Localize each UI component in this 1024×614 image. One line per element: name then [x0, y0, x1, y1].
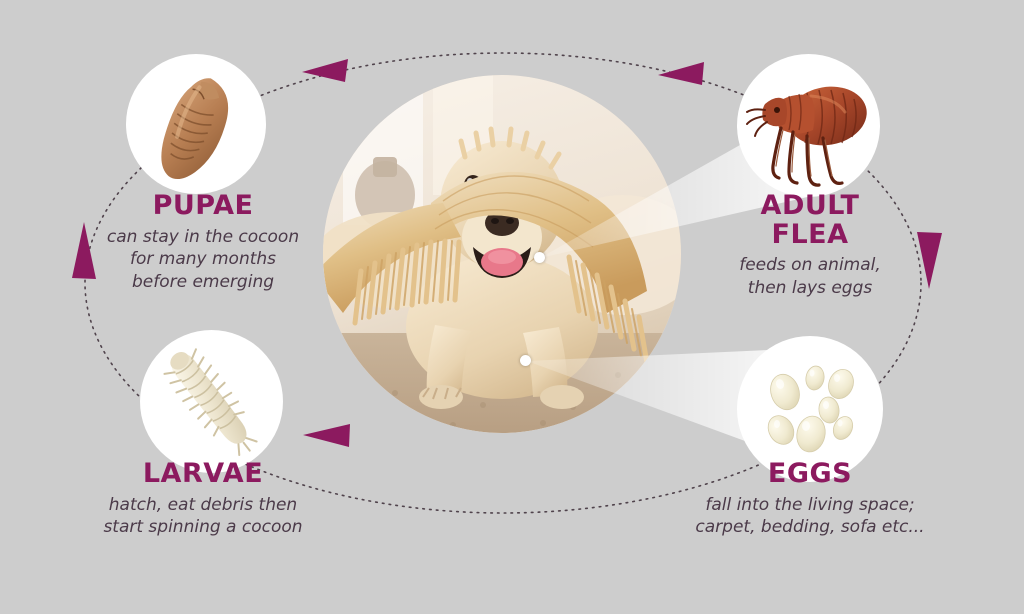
arrow-flea-to-eggs-right	[917, 232, 942, 289]
flea-larva-icon	[140, 330, 283, 473]
flea-life-cycle-infographic: PUPAE can stay in the cocoon for many mo…	[0, 0, 1024, 614]
stage-title-adult-flea: ADULT FLEA	[700, 192, 920, 249]
stage-label-pupae: PUPAE can stay in the cocoon for many mo…	[78, 192, 328, 293]
arrow-toward-adult-flea	[658, 62, 704, 85]
stage-label-adult-flea: ADULT FLEA feeds on animal, then lays eg…	[700, 192, 920, 299]
stage-description-larvae: hatch, eat debris then start spinning a …	[78, 494, 328, 539]
stage-label-larvae: LARVAE hatch, eat debris then start spin…	[78, 460, 328, 539]
eggs-hotspot[interactable]	[520, 355, 531, 366]
stage-bubble-adult-flea[interactable]	[737, 54, 880, 197]
stage-bubble-larvae[interactable]	[140, 330, 283, 473]
stage-label-eggs: EGGS fall into the living space; carpet,…	[660, 460, 960, 539]
arrow-flea-to-pupae-top	[302, 59, 348, 82]
stage-title-pupae: PUPAE	[78, 192, 328, 221]
stage-description-adult-flea: feeds on animal, then lays eggs	[700, 254, 920, 299]
stage-bubble-pupae[interactable]	[126, 54, 266, 194]
arrow-eggs-to-larvae-bottom	[303, 424, 350, 447]
adult-flea-hotspot[interactable]	[534, 252, 545, 263]
pupa-cocoon-icon	[126, 54, 266, 194]
stage-title-larvae: LARVAE	[78, 460, 328, 489]
dog-illustration	[323, 75, 681, 433]
stage-description-pupae: can stay in the cocoon for many months b…	[78, 226, 328, 294]
stage-description-eggs: fall into the living space; carpet, bedd…	[660, 494, 960, 539]
adult-flea-icon	[737, 54, 880, 197]
stage-title-eggs: EGGS	[660, 460, 960, 489]
center-dog-photo	[323, 75, 681, 433]
